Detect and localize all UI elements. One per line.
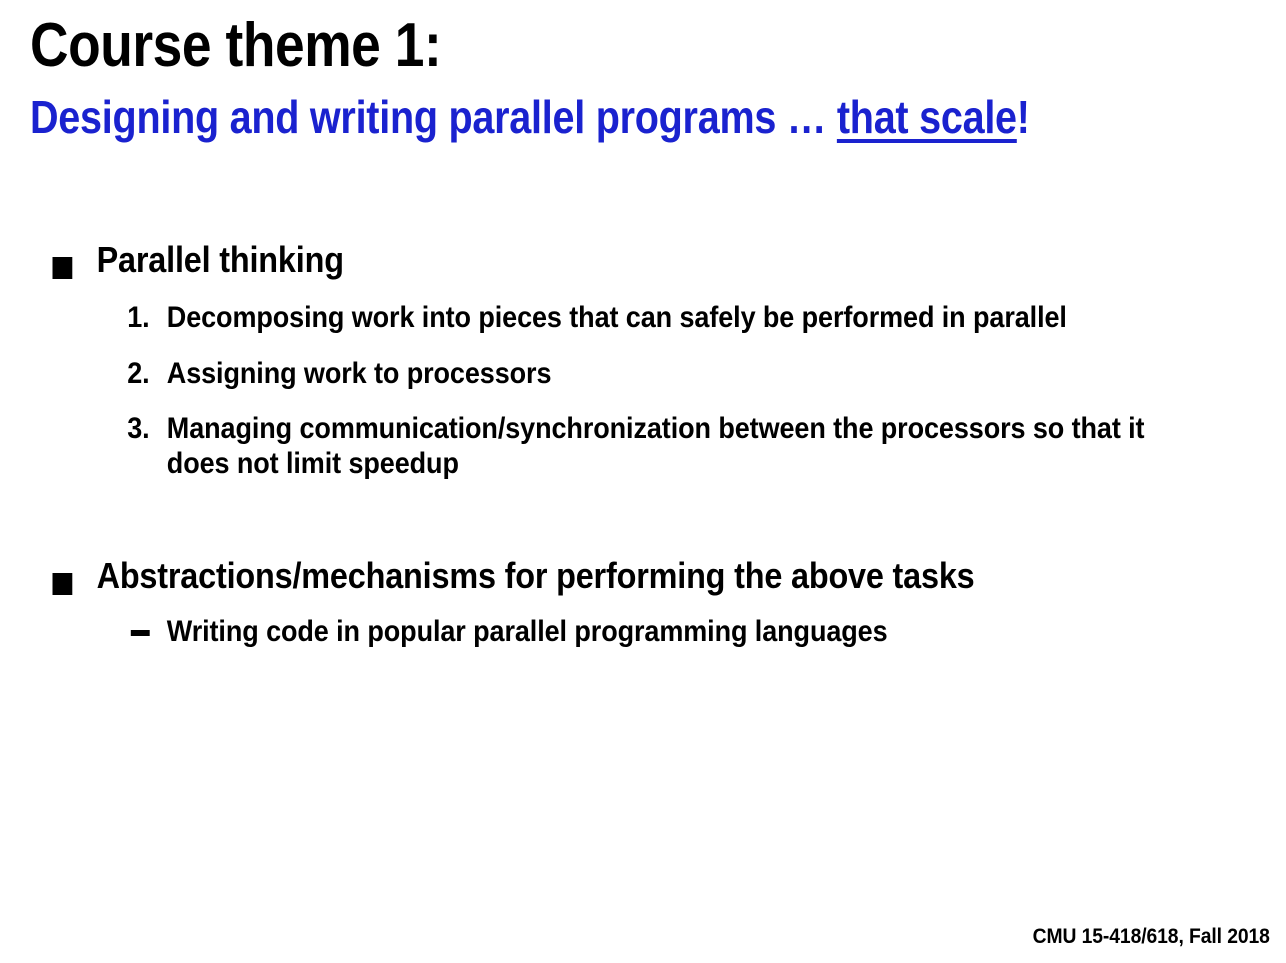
content-section-parallel-thinking: Parallel thinking 1. Decomposing work in…	[30, 240, 1270, 482]
content-section-abstractions: Abstractions/mechanisms for performing t…	[30, 556, 1270, 650]
list-item: Writing code in popular parallel program…	[30, 614, 1146, 649]
slide-canvas: Course theme 1: Designing and writing pa…	[0, 0, 1286, 963]
list-item-text: Assigning work to processors	[167, 357, 552, 390]
title-block: Course theme 1: Designing and writing pa…	[30, 14, 1260, 142]
list-item: 2. Assigning work to processors	[30, 356, 1146, 391]
list-item-text: Writing code in popular parallel program…	[167, 615, 888, 648]
slide-body: Parallel thinking 1. Decomposing work in…	[30, 240, 1270, 650]
section-spacer	[30, 482, 1270, 556]
numbered-list-parallel-thinking: 1. Decomposing work into pieces that can…	[30, 300, 1270, 482]
bullet-label: Parallel thinking	[97, 239, 344, 280]
slide-subtitle: Designing and writing parallel programs …	[30, 93, 1088, 141]
subtitle-lead-text: Designing and writing parallel programs …	[30, 91, 837, 143]
dash-list-abstractions: Writing code in popular parallel program…	[30, 614, 1270, 649]
list-item: 3. Managing communication/synchronizatio…	[30, 411, 1146, 482]
list-item-number: 2.	[127, 356, 159, 391]
dash-bullet-icon	[131, 630, 150, 636]
square-bullet-icon	[53, 573, 73, 595]
slide-footer: CMU 15-418/618, Fall 2018	[1033, 925, 1270, 949]
bullet-label: Abstractions/mechanisms for performing t…	[97, 555, 975, 596]
list-item-number: 3.	[127, 411, 159, 446]
list-item-text: Managing communication/synchronization b…	[167, 412, 1145, 480]
list-item: 1. Decomposing work into pieces that can…	[30, 300, 1146, 335]
list-item-text: Decomposing work into pieces that can sa…	[167, 301, 1067, 334]
subtitle-trailing-text: !	[1017, 91, 1030, 143]
list-item-number: 1.	[127, 300, 159, 335]
square-bullet-icon	[53, 257, 73, 279]
bullet-parallel-thinking: Parallel thinking	[30, 240, 1146, 280]
subtitle-emphasis-text: that scale	[837, 91, 1017, 143]
bullet-abstractions: Abstractions/mechanisms for performing t…	[30, 556, 1146, 596]
page-title: Course theme 1:	[30, 14, 1088, 77]
